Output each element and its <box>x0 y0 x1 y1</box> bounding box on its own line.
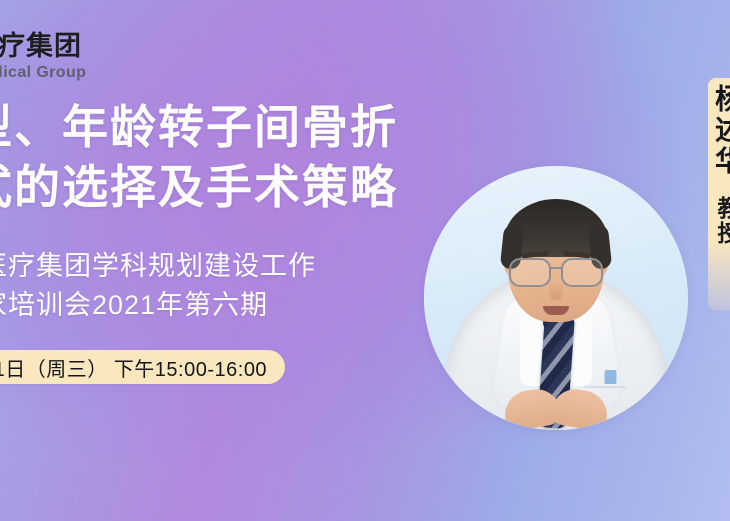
portrait-nose <box>549 282 563 300</box>
webinar-poster: 医疗集团 Medical Group 型、年龄转子间骨折 式的选择及手术策略 医… <box>0 0 730 521</box>
lab-coat-badge-icon <box>605 370 617 384</box>
page-subtitle-line-2: 家培训会2021年第六期 <box>0 286 316 325</box>
brand-logo-cn: 医疗集团 <box>0 33 145 60</box>
portrait-hand-right <box>549 385 611 430</box>
page-subtitle: 医疗集团学科规划建设工作 家培训会2021年第六期 <box>0 247 316 325</box>
glasses-lens-right <box>561 258 603 287</box>
brand-logo-en: Medical Group <box>0 65 145 81</box>
glasses-lens-left <box>509 258 551 287</box>
speaker-portrait <box>424 166 688 430</box>
speaker-title: 教授 <box>710 196 730 246</box>
brand-logo: 医疗集团 Medical Group <box>0 33 145 81</box>
portrait-hands <box>508 388 604 428</box>
schedule-badge: 21日（周三） 下午15:00-16:00 <box>0 350 285 384</box>
page-title-line-2: 式的选择及手术策略 <box>0 157 398 217</box>
glasses-icon <box>507 258 605 284</box>
page-title-line-1: 型、年龄转子间骨折 <box>0 97 398 157</box>
page-subtitle-line-1: 医疗集团学科规划建设工作 <box>0 247 316 286</box>
speaker-name: 杨述华 <box>710 84 730 177</box>
page-title: 型、年龄转子间骨折 式的选择及手术策略 <box>0 97 398 217</box>
